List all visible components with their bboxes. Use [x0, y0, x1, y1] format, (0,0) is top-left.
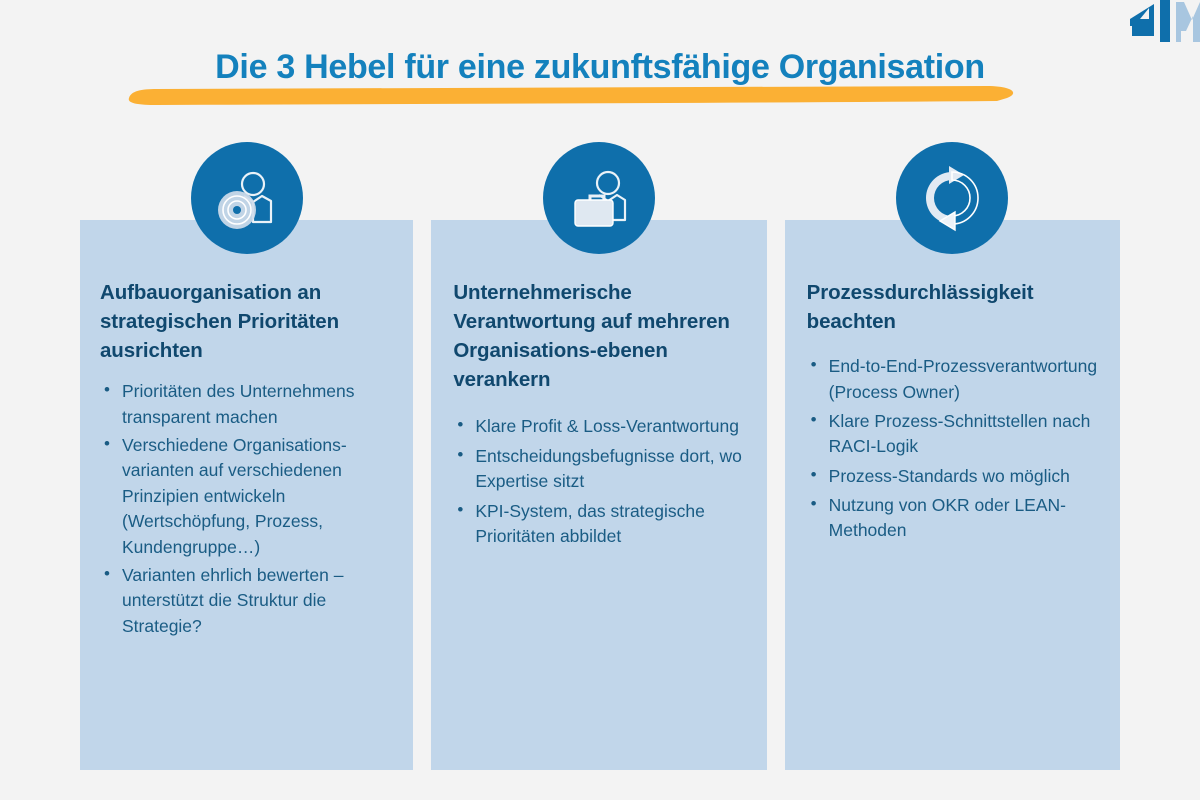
cards-row: Aufbauorganisation an strategischen Prio… — [80, 220, 1120, 770]
list-item: Nutzung von OKR oder LEAN-Methoden — [807, 493, 1098, 544]
card-aufbauorganisation: Aufbauorganisation an strategischen Prio… — [80, 220, 413, 770]
person-briefcase-icon — [543, 142, 655, 254]
page-title: Die 3 Hebel für eine zukunftsfähige Orga… — [0, 48, 1200, 87]
brand-logo — [1116, 0, 1200, 48]
list-item: KPI-System, das strategische Prioritäten… — [453, 499, 744, 550]
list-item: Klare Prozess-Schnittstellen nach RACI-L… — [807, 409, 1098, 460]
list-item: Prioritäten des Unternehmens transparent… — [100, 379, 391, 430]
list-item: Prozess-Standards wo möglich — [807, 464, 1098, 489]
page-header: Die 3 Hebel für eine zukunftsfähige Orga… — [0, 48, 1200, 87]
list-item: End-to-End-Prozessverantwortung (Process… — [807, 354, 1098, 405]
list-item: Verschiedene Organisations-varianten auf… — [100, 433, 391, 560]
card-prozessdurchlaessigkeit: Prozessdurchlässigkeit beachten End-to-E… — [785, 220, 1120, 770]
list-item: Entscheidungsbefugnisse dort, wo Experti… — [453, 444, 744, 495]
list-item: Klare Profit & Loss-Verantwortung — [453, 414, 744, 439]
card-bullet-list: End-to-End-Prozessverantwortung (Process… — [807, 354, 1098, 544]
list-item: Varianten ehrlich bewerten – unterstützt… — [100, 563, 391, 639]
card-unternehmerische-verantwortung: Unternehmerische Verantwortung auf mehre… — [431, 220, 766, 770]
title-underline-swoosh — [127, 84, 1020, 106]
person-target-icon — [191, 142, 303, 254]
card-heading: Aufbauorganisation an strategischen Prio… — [100, 278, 391, 365]
circular-arrows-icon — [896, 142, 1008, 254]
card-bullet-list: Klare Profit & Loss-Verantwortung Entsch… — [453, 414, 744, 549]
card-heading: Unternehmerische Verantwortung auf mehre… — [453, 278, 744, 394]
logo-4m-icon — [1116, 0, 1200, 48]
card-bullet-list: Prioritäten des Unternehmens transparent… — [100, 379, 391, 639]
card-heading: Prozessdurchlässigkeit beachten — [807, 278, 1098, 336]
